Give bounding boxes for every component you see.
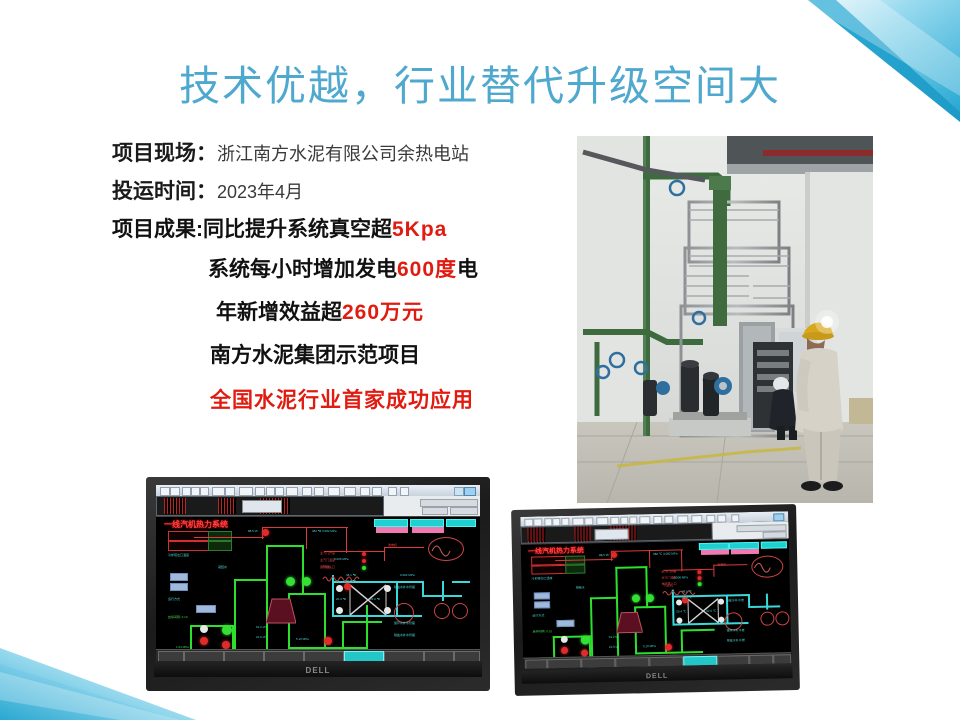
- scada-turbine: [266, 597, 296, 627]
- scada-param-box-r4: [565, 564, 585, 573]
- scada-ind-rg1: [632, 594, 640, 602]
- scada-ind-rr6: [611, 552, 617, 558]
- info-value-date: 2023年4月: [217, 182, 303, 202]
- scada-pump-3: [452, 603, 468, 619]
- info-row-demo: 南方水泥集团示范项目: [112, 345, 582, 366]
- scada-ind-rr5: [665, 644, 672, 651]
- scada-blue-2: [170, 583, 188, 591]
- scada-statusbar[interactable]: [156, 649, 480, 661]
- info-label-site: 项目现场：: [112, 142, 217, 165]
- scada-ribbon: [156, 496, 480, 517]
- scada-indicator-red-6: [262, 529, 269, 536]
- info-highlight-power: 600度: [397, 258, 457, 281]
- slide-root: 技术优越，行业替代升级空间大 项目现场：浙江南方水泥有限公司余热电站 投运时间：…: [0, 0, 960, 720]
- scada-indicator-green-2: [302, 577, 311, 586]
- scada-indicator-green-1: [286, 577, 295, 586]
- info-value-demo: 南方水泥集团示范项目: [210, 344, 420, 367]
- info-label-date: 投运时间：: [112, 180, 217, 203]
- info-value-benefit: 年新增效益超: [216, 301, 342, 324]
- scada-indicator-red-1: [222, 641, 230, 649]
- scada-ind-rw2: [676, 599, 682, 605]
- scada-ind-rr3: [561, 647, 568, 654]
- scada-view-left: 一线汽机热力系统 冷却塔出口温度 运行方式 启停间隔: 0.10: [156, 485, 480, 661]
- info-row-firstapp: 全国水泥行业首家成功应用: [112, 390, 582, 411]
- scada-tag-2[interactable]: [410, 519, 444, 527]
- monitor-right-screen: 一线汽机热力系统 冷却塔出口温度 运行方式 启停间隔: 0.10: [520, 511, 791, 669]
- scada-pump-r2: [760, 612, 774, 626]
- scada-tag-3[interactable]: [446, 519, 476, 527]
- info-suffix-power: 电: [457, 258, 478, 281]
- info-label-result: 项目成果:: [112, 218, 203, 241]
- scada-pump-1: [394, 603, 414, 623]
- scada-ind-rw3: [718, 599, 724, 605]
- scada-blue-r2: [534, 601, 550, 608]
- scada-ind-rw1: [561, 636, 568, 643]
- scada-coil: [322, 575, 364, 583]
- scada-indicator-white-2: [336, 585, 343, 592]
- scada-condenser: [348, 583, 388, 617]
- scada-blue-r3: [556, 620, 574, 627]
- monitor-left-screen: 一线汽机热力系统 冷却塔出口温度 运行方式 启停间隔: 0.10: [156, 485, 480, 661]
- scada-blue-1: [170, 573, 188, 581]
- scada-ind-rw4: [676, 617, 682, 623]
- scada-param-box-1: [168, 531, 210, 541]
- plant-photo-content: [577, 136, 873, 503]
- monitor-left: 一线汽机热力系统 冷却塔出口温度 运行方式 启停间隔: 0.10: [146, 477, 490, 691]
- scada-screen-title: 一线汽机热力系统: [164, 519, 228, 530]
- scada-pump-2: [434, 603, 450, 619]
- info-row-benefit: 年新增效益超260万元: [112, 302, 582, 323]
- scada-ind-rg2: [646, 594, 654, 602]
- scada-param-box-2: [168, 541, 210, 551]
- scada-indicator-white-4: [336, 607, 343, 614]
- scada-tag-5[interactable]: [412, 527, 444, 533]
- scada-indicator-red-7: [344, 583, 351, 590]
- scada-tag-4[interactable]: [376, 527, 408, 533]
- info-row-site: 项目现场：浙江南方水泥有限公司余热电站: [112, 143, 582, 164]
- info-highlight-vacuum: 5Kpa: [392, 218, 447, 241]
- scada-tag-1[interactable]: [374, 519, 408, 527]
- scada-indicator-green-3: [222, 625, 232, 635]
- scada-view-right: 一线汽机热力系统 冷却塔出口温度 运行方式 启停间隔: 0.10: [520, 511, 791, 669]
- scada-blue-3: [196, 605, 216, 613]
- info-row-power: 系统每小时增加发电600度电: [112, 259, 582, 280]
- scada-coil-right: [662, 589, 698, 597]
- scada-blue-r1: [534, 592, 550, 599]
- scada-tag-r4[interactable]: [701, 549, 729, 555]
- scada-indicator-white-3: [384, 585, 391, 592]
- scada-legend: 主汽门开度 主汽门温度 循环泵入口: [320, 551, 362, 573]
- scada-ind-rw5: [718, 617, 724, 623]
- scada-indicator-red-5: [324, 637, 332, 645]
- page-title: 技术优越，行业替代升级空间大: [0, 64, 960, 109]
- scada-toolbar[interactable]: [156, 485, 480, 496]
- scada-param-box-r2: [531, 565, 567, 575]
- scada-indicator-white-1: [200, 625, 208, 633]
- monitor-left-brand: DELL: [146, 666, 490, 675]
- info-highlight-firstapp: 全国水泥行业首家成功应用: [210, 389, 474, 412]
- info-value-site: 浙江南方水泥有限公司余热电站: [217, 144, 469, 164]
- monitor-right: 一线汽机热力系统 冷却塔出口温度 运行方式 启停间隔: 0.10: [511, 504, 800, 696]
- info-highlight-benefit: 260万元: [342, 301, 424, 324]
- info-value-result: 同比提升系统真空超: [203, 218, 392, 241]
- scada-turbine-right: [616, 610, 643, 637]
- info-row-result: 项目成果:同比提升系统真空超5Kpa: [112, 219, 582, 240]
- scada-param-box-4: [208, 541, 232, 551]
- plant-site-photo: [577, 136, 873, 503]
- scada-tag-r5[interactable]: [731, 549, 759, 555]
- scada-param-box-3: [208, 531, 232, 541]
- scada-tag-r3[interactable]: [761, 541, 787, 549]
- scada-pump-r3: [775, 611, 789, 625]
- info-row-date: 投运时间：2023年4月: [112, 181, 582, 202]
- scada-indicator-white-5: [384, 607, 391, 614]
- scada-indicator-red-3: [200, 637, 208, 645]
- project-info-block: 项目现场：浙江南方水泥有限公司余热电站 投运时间：2023年4月 项目成果:同比…: [112, 143, 582, 411]
- info-value-power: 系统每小时增加发电: [208, 258, 397, 281]
